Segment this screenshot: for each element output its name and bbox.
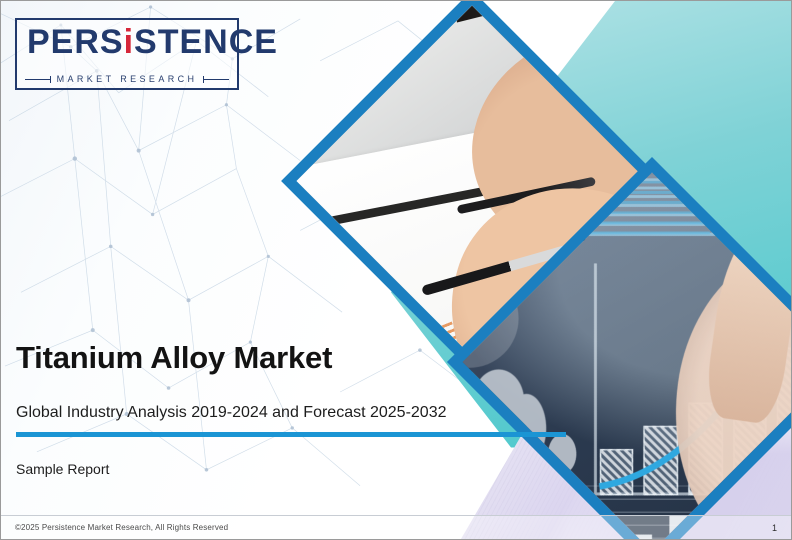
brand-tagline-row: MARKET RESEARCH	[17, 74, 237, 84]
cover-title-block: Titanium Alloy Market Global Industry An…	[16, 339, 576, 477]
page-title: Titanium Alloy Market	[16, 339, 576, 377]
title-divider	[16, 432, 566, 437]
footer-copyright: ©2025 Persistence Market Research, All R…	[15, 523, 228, 532]
page-footer: ©2025 Persistence Market Research, All R…	[1, 515, 791, 539]
tagline-rule-left	[25, 79, 51, 80]
brand-tagline: MARKET RESEARCH	[57, 74, 198, 84]
brand-wordmark-accent-letter: i	[124, 23, 134, 61]
report-cover-page: 62%	[0, 0, 792, 540]
brand-logo[interactable]: PERSiSTENCE MARKET RESEARCH	[15, 18, 239, 90]
footer-page-number: 1	[772, 523, 777, 533]
brand-wordmark-part-1: PERS	[27, 23, 124, 61]
brand-wordmark-part-2: STENCE	[134, 23, 278, 61]
report-kind-label: Sample Report	[16, 461, 576, 477]
report-subtitle: Global Industry Analysis 2019-2024 and F…	[16, 403, 576, 423]
brand-wordmark: PERSiSTENCE	[27, 23, 278, 61]
tagline-rule-right	[203, 79, 229, 80]
